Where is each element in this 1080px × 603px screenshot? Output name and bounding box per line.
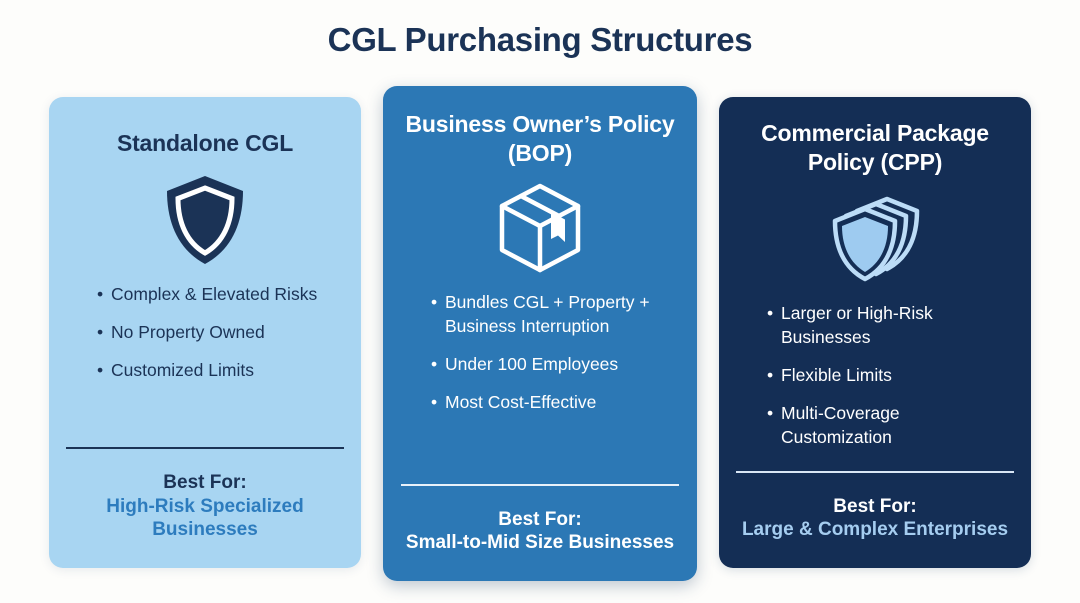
list-item: Flexible Limits [767, 363, 1007, 387]
list-item: Customized Limits [97, 358, 337, 382]
list-item: Most Cost-Effective [431, 390, 673, 414]
infographic-page: CGL Purchasing Structures Standalone CGL… [0, 0, 1080, 603]
bullet-list: Larger or High-Risk Businesses Flexible … [735, 301, 1015, 471]
list-item: Multi-Coverage Customization [767, 401, 1007, 449]
best-for-value: High-Risk Specialized Businesses [65, 495, 345, 543]
divider [736, 471, 1014, 473]
best-for-label: Best For: [65, 471, 345, 495]
bullet-list: Complex & Elevated Risks No Property Own… [65, 282, 345, 447]
best-for-footer: Best For: Small-to-Mid Size Businesses [406, 508, 674, 582]
package-box-icon [493, 180, 587, 276]
card-title: Standalone CGL [117, 129, 293, 158]
best-for-value: Small-to-Mid Size Businesses [406, 531, 674, 555]
card-title: Commercial Package Policy (CPP) [735, 119, 1015, 177]
best-for-label: Best For: [742, 495, 1008, 519]
card-commercial-package-policy[interactable]: Commercial Package Policy (CPP) Larger o… [719, 97, 1031, 568]
list-item: Under 100 Employees [431, 352, 673, 376]
cards-row: Standalone CGL Complex & Elevated Risks … [0, 0, 1080, 603]
best-for-value: Large & Complex Enterprises [742, 518, 1008, 542]
list-item: Complex & Elevated Risks [97, 282, 337, 306]
best-for-label: Best For: [406, 508, 674, 532]
best-for-footer: Best For: Large & Complex Enterprises [742, 495, 1008, 569]
bullet-list: Bundles CGL + Property + Business Interr… [399, 290, 681, 484]
layered-shields-icon [825, 191, 925, 287]
divider [401, 484, 679, 486]
divider [66, 447, 344, 449]
list-item: No Property Owned [97, 320, 337, 344]
card-title: Business Owner’s Policy (BOP) [399, 110, 681, 168]
card-standalone-cgl[interactable]: Standalone CGL Complex & Elevated Risks … [49, 97, 361, 568]
list-item: Bundles CGL + Property + Business Interr… [431, 290, 673, 338]
card-business-owners-policy[interactable]: Business Owner’s Policy (BOP) Bundles CG… [383, 86, 697, 581]
best-for-footer: Best For: High-Risk Specialized Business… [65, 471, 345, 568]
shield-icon [159, 172, 251, 268]
list-item: Larger or High-Risk Businesses [767, 301, 1007, 349]
